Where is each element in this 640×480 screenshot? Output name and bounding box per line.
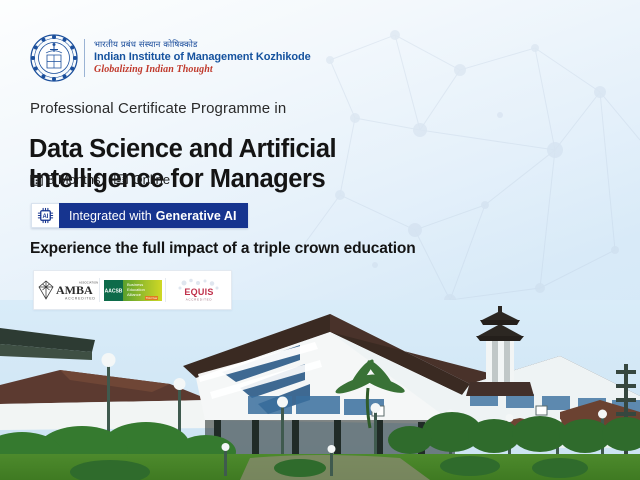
amba-logo-icon: AMBA ASSOCIATION OF MBAs ACCREDITED bbox=[36, 278, 98, 302]
equis-subtext: ACCREDITED bbox=[185, 298, 212, 302]
aacsb-subtext: Third Year bbox=[145, 297, 157, 300]
meta-duration: 8 Months bbox=[30, 172, 100, 187]
value-proposition-tagline: Experience the full impact of a triple c… bbox=[30, 240, 416, 258]
iim-kozhikode-campus-photo bbox=[0, 300, 640, 480]
programme-eyebrow: Professional Certificate Programme in bbox=[30, 100, 286, 117]
institute-name-english: Indian Institute of Management Kozhikode bbox=[94, 52, 311, 63]
ai-badge-label: Integrated with Generative AI bbox=[59, 203, 248, 228]
aacsb-mark: AACSB bbox=[104, 288, 122, 294]
equis-logo: EQUIS ACCREDITED bbox=[166, 271, 231, 309]
amba-logo: AMBA ASSOCIATION OF MBAs ACCREDITED bbox=[34, 271, 99, 309]
aacsb-line-2: Education bbox=[127, 287, 145, 292]
amba-subtext: ACCREDITED bbox=[65, 297, 96, 301]
calendar-icon bbox=[30, 173, 43, 186]
ai-chip-label: AI bbox=[43, 214, 49, 220]
iim-kozhikode-crest-icon bbox=[28, 33, 80, 83]
meta-duration-label: 8 Months bbox=[47, 172, 100, 187]
meta-mode: Online bbox=[114, 172, 170, 187]
online-screen-icon bbox=[114, 173, 128, 186]
ai-badge-text-normal: Integrated with bbox=[69, 209, 152, 223]
aacsb-line-3: Alliance bbox=[127, 292, 142, 297]
equis-logo-icon: EQUIS ACCREDITED bbox=[173, 277, 225, 303]
programme-meta: 8 Months Online bbox=[30, 172, 170, 187]
promotional-banner: भारतीय प्रबंध संस्थान कोषिक्कोड Indian I… bbox=[0, 0, 640, 480]
status-badge: AI Integrated with Generative AI bbox=[31, 203, 248, 228]
meta-mode-label: Online bbox=[132, 172, 170, 187]
institute-name-hindi: भारतीय प्रबंध संस्थान कोषिक्कोड bbox=[94, 41, 311, 50]
title-line-1: Data Science and Artificial bbox=[29, 135, 336, 163]
ai-chip-icon-wrap: AI bbox=[31, 203, 59, 228]
amba-superscript: ASSOCIATION OF MBAs bbox=[79, 281, 98, 285]
logo-divider bbox=[84, 39, 85, 77]
ai-chip-icon: AI bbox=[36, 206, 55, 225]
institute-logo-lockup: भारतीय प्रबंध संस्थान कोषिक्कोड Indian I… bbox=[28, 33, 311, 83]
ai-badge-text-bold: Generative AI bbox=[156, 209, 237, 223]
equis-mark: EQUIS bbox=[184, 287, 213, 297]
institute-tagline: Globalizing Indian Thought bbox=[94, 65, 311, 75]
aacsb-line-1: Business bbox=[127, 282, 143, 287]
amba-mark: AMBA bbox=[56, 283, 93, 297]
accreditation-strip: AMBA ASSOCIATION OF MBAs ACCREDITED AACS… bbox=[33, 270, 232, 310]
aacsb-logo-icon: AACSB Business Education Alliance Third … bbox=[104, 278, 162, 303]
aacsb-logo: AACSB Business Education Alliance Third … bbox=[100, 271, 165, 309]
